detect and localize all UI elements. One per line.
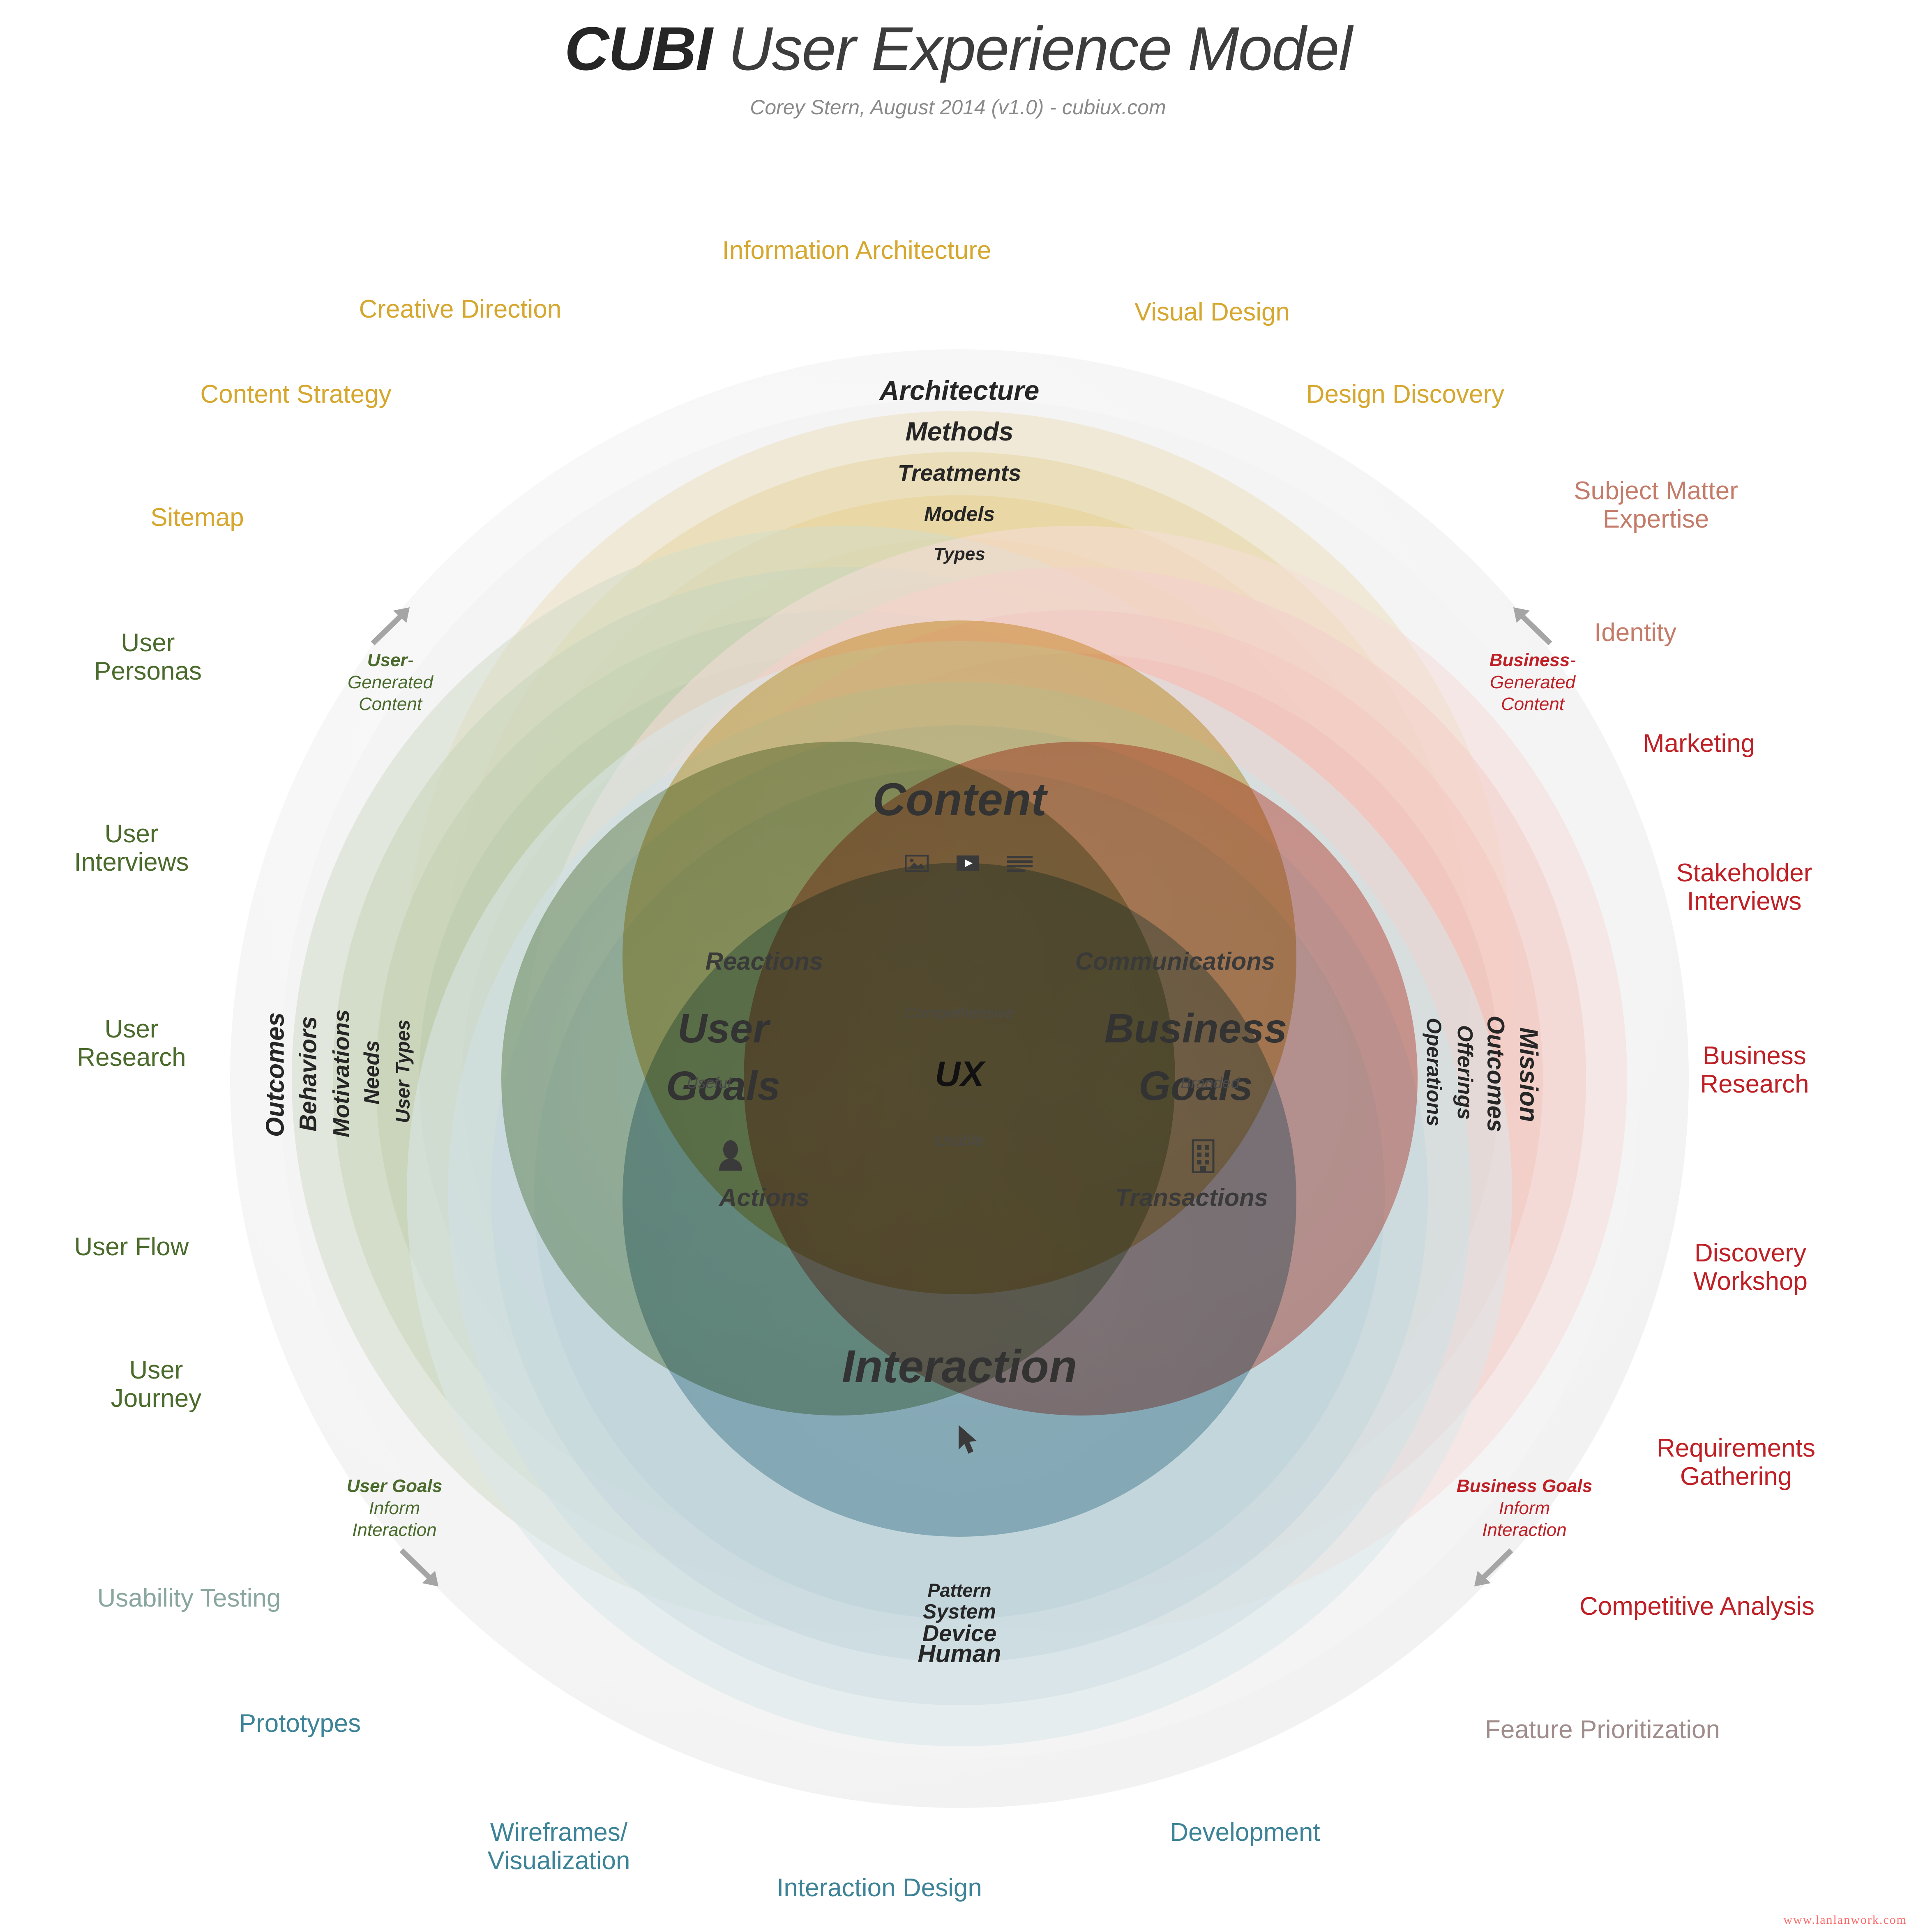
quadrant-interaction-label: Interaction (754, 1340, 1165, 1393)
title-rest: User Experience Model (712, 14, 1351, 83)
keyword-design-discovery: Design Discovery (1179, 380, 1631, 408)
ring-label-outcomes-business: Outcomes (1482, 930, 1510, 1218)
ring-label-usertypes: User Types (392, 928, 414, 1215)
keyword-identity: Identity (1492, 618, 1779, 647)
intersection-transactions: Transactions (1048, 1183, 1335, 1212)
person-icon (579, 1132, 867, 1180)
ring-label-behaviors: Behaviors (295, 930, 322, 1218)
anno-ugc-rest: - (408, 650, 414, 670)
keyword-subject-matter-expertise: Subject Matter Expertise (1450, 477, 1861, 534)
keyword-interaction-design: Interaction Design (690, 1874, 1068, 1902)
keyword-user-flow: User Flow (0, 1233, 263, 1261)
anno-ugi-bold: User Goals (347, 1476, 442, 1496)
anno-ugc-bold: User (367, 650, 408, 670)
ring-label-offerings: Offerings (1453, 929, 1477, 1216)
quadrant-content: Content (754, 758, 1165, 896)
keyword-wireframes-visualization: Wireframes/ Visualization (411, 1818, 707, 1875)
content-icon-row (754, 847, 1165, 881)
cubi-venn-diagram: Architecture Methods Treatments Models T… (230, 349, 1689, 1808)
keyword-marketing: Marketing (1545, 729, 1853, 758)
ring-label-outcomes-user: Outcomes (261, 931, 290, 1219)
anno-bgc-line2: Generated (1446, 671, 1619, 694)
intersection-reactions: Reactions (641, 947, 888, 975)
watermark: www.lanlanwork.com (1783, 1913, 1907, 1927)
arrow-up-right-icon (304, 604, 477, 649)
diagram-canvas: CUBI User Experience Model Corey Stern, … (0, 0, 1916, 1932)
anno-bgi-line3: Interaction (1418, 1519, 1631, 1541)
ring-label-methods: Methods (754, 416, 1165, 447)
keyword-user-research: User Research (0, 1015, 263, 1072)
ring-label-needs: Needs (360, 929, 384, 1216)
intersection-communications: Communications (1031, 947, 1319, 975)
keyword-information-architecture: Information Architecture (651, 236, 1062, 265)
image-icon (886, 847, 928, 881)
quadrant-interaction: Interaction (754, 1325, 1165, 1481)
keyword-stakeholder-interviews: Stakeholder Interviews (1574, 859, 1915, 916)
title-brand: CUBI (565, 14, 712, 83)
ring-label-operations: Operations (1422, 928, 1446, 1216)
video-icon (938, 847, 980, 881)
keyword-user-interviews: User Interviews (0, 820, 263, 877)
anno-ugi-line3: Interaction (300, 1519, 489, 1541)
intersection-comprehensive: Comprehensive (836, 1005, 1083, 1022)
keyword-creative-direction: Creative Direction (288, 295, 633, 323)
intersection-actions: Actions (641, 1183, 888, 1212)
text-lines-icon (989, 847, 1032, 881)
intersection-branded: Branded (1142, 1074, 1278, 1092)
annotation-business-goals-inform-interaction: Business Goals Inform Interaction (1418, 1475, 1631, 1590)
quadrant-user-goals-line1: User (579, 1007, 867, 1050)
keyword-development: Development (1072, 1818, 1418, 1847)
keyword-user-personas: User Personas (16, 629, 279, 686)
page-header: CUBI User Experience Model Corey Stern, … (0, 16, 1916, 119)
quadrant-business-goals: Business Goals (1052, 992, 1340, 1197)
anno-ugc-line2: Generated (304, 671, 477, 694)
cursor-arrow-icon (754, 1415, 1165, 1466)
ring-label-pattern: Pattern (754, 1580, 1165, 1601)
keyword-feature-prioritization: Feature Prioritization (1385, 1715, 1820, 1744)
ring-label-motivations: Motivations (328, 930, 355, 1217)
anno-bgi-line2: Inform (1418, 1497, 1631, 1519)
anno-bgc-line3: Content (1446, 693, 1619, 715)
quadrant-user-goals: User Goals (579, 992, 867, 1195)
arrow-down-left-icon (1418, 1545, 1631, 1590)
intersection-useful: Useful (641, 1074, 777, 1092)
quadrant-business-goals-line1: Business (1052, 1007, 1340, 1050)
quadrant-content-label: Content (754, 773, 1165, 826)
anno-bgc-bold: Business (1489, 650, 1570, 670)
keyword-requirements-gathering: Requirements Gathering (1557, 1434, 1915, 1491)
keyword-business-research: Business Research (1594, 1042, 1915, 1099)
keyword-prototypes: Prototypes (181, 1709, 419, 1738)
arrow-down-right-icon (300, 1545, 489, 1590)
keyword-content-strategy: Content Strategy (70, 380, 522, 408)
keyword-sitemap: Sitemap (66, 503, 329, 532)
annotation-user-goals-inform-interaction: User Goals Inform Interaction (300, 1475, 489, 1590)
ring-label-human: Human (754, 1639, 1165, 1668)
building-icon (1052, 1132, 1340, 1183)
anno-ugi-line2: Inform (300, 1497, 489, 1519)
ring-label-mission: Mission (1514, 931, 1543, 1219)
annotation-user-generated-content: User- Generated Content (304, 604, 477, 715)
intersection-ux: UX (836, 1054, 1083, 1095)
keyword-discovery-workshop: Discovery Workshop (1586, 1239, 1915, 1296)
anno-ugc-line3: Content (304, 693, 477, 715)
keyword-visual-design: Visual Design (1040, 298, 1385, 326)
page-subtitle: Corey Stern, August 2014 (v1.0) - cubiux… (0, 95, 1916, 119)
keyword-usability-testing: Usability Testing (25, 1584, 353, 1612)
anno-bgc-rest: - (1570, 650, 1576, 670)
keyword-user-journey: User Journey (25, 1356, 288, 1413)
ring-label-architecture: Architecture (754, 375, 1165, 406)
intersection-usable: Usable (836, 1132, 1083, 1150)
keyword-competitive-analysis: Competitive Analysis (1479, 1592, 1915, 1621)
page-title: CUBI User Experience Model (0, 16, 1916, 81)
ring-label-treatments: Treatments (754, 459, 1165, 486)
ring-label-models: Models (754, 502, 1165, 526)
ring-label-types: Types (754, 544, 1165, 565)
